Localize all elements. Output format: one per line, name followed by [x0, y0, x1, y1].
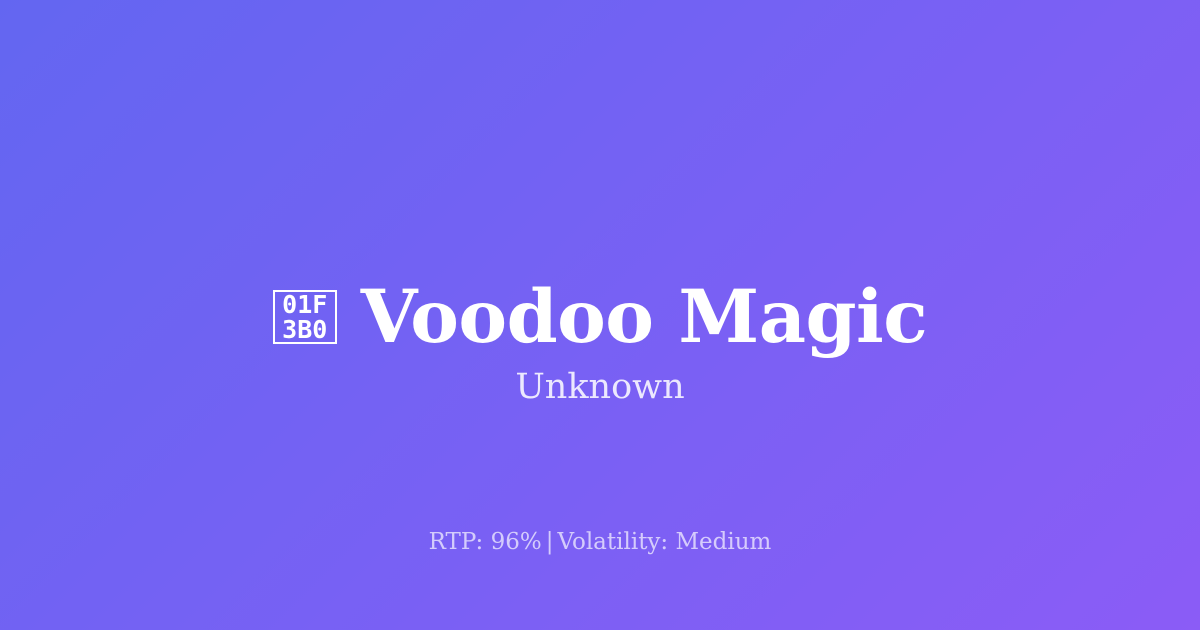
slot-machine-icon-codepoint-low: 3B0 — [282, 317, 327, 342]
stat-separator: | — [542, 529, 558, 555]
slot-machine-icon-codepoint-high: 01F — [282, 292, 327, 317]
game-preview-card: 01F 3B0 Voodoo Magic Unknown RTP: 96%|Vo… — [0, 0, 1200, 630]
stat-volatility: Volatility: Medium — [557, 529, 771, 555]
game-title: Voodoo Magic — [361, 281, 928, 354]
game-stats: RTP: 96%|Volatility: Medium — [0, 527, 1200, 557]
game-provider: Unknown — [0, 365, 1200, 409]
stat-rtp: RTP: 96% — [429, 529, 542, 555]
slot-machine-icon: 01F 3B0 — [273, 290, 337, 344]
